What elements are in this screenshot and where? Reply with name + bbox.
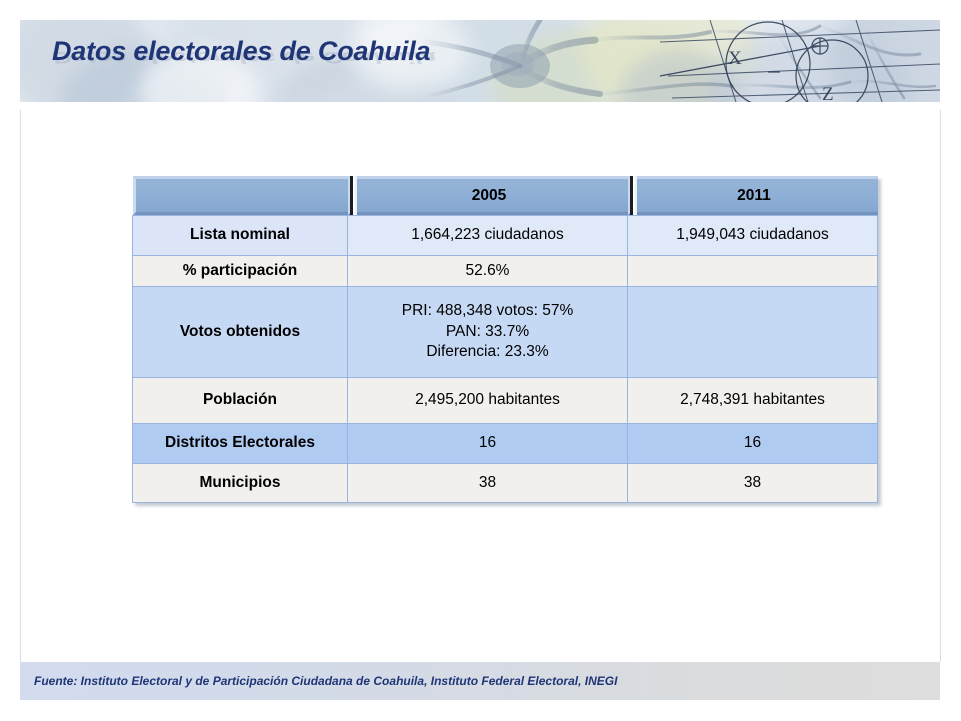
cell-votos-obtenidos-2005: PRI: 488,348 votos: 57% PAN: 33.7% Difer… — [348, 287, 628, 378]
column-header-2011-cell: 2011 — [628, 176, 878, 215]
table-row: Distritos Electorales 16 16 — [133, 424, 878, 464]
row-label-distritos-electorales: Distritos Electorales — [133, 424, 348, 464]
cell-votos-obtenidos-2011 — [628, 287, 878, 378]
row-label-lista-nominal: Lista nominal — [133, 216, 348, 256]
page-title: Datos electorales de Coahuila — [52, 36, 430, 67]
cell-participacion-2011 — [628, 256, 878, 287]
cell-distritos-2011: 16 — [628, 424, 878, 464]
row-label-votos-obtenidos: Votos obtenidos — [133, 287, 348, 378]
svg-text:X: X — [728, 48, 742, 69]
column-header-2005-label: 2005 — [472, 187, 506, 205]
column-header-2011-label: 2011 — [737, 187, 771, 205]
votos-line-diferencia: Diferencia: 23.3% — [402, 342, 573, 362]
row-label-municipios: Municipios — [133, 464, 348, 503]
header-separator — [350, 176, 357, 215]
cell-lista-nominal-2005: 1,664,223 ciudadanos — [348, 216, 628, 256]
cell-municipios-2011: 38 — [628, 464, 878, 503]
slide-canvas: X Z Datos electorales de Coahuila Datos … — [0, 0, 961, 721]
cell-poblacion-2011: 2,748,391 habitantes — [628, 378, 878, 424]
row-label-poblacion: Población — [133, 378, 348, 424]
table-header-row: 2005 2011 — [133, 176, 878, 216]
votos-line-pan: PAN: 33.7% — [402, 322, 573, 342]
column-header-2005: 2005 — [348, 176, 628, 216]
cell-municipios-2005: 38 — [348, 464, 628, 503]
cell-distritos-2005: 16 — [348, 424, 628, 464]
table-row: Votos obtenidos PRI: 488,348 votos: 57% … — [133, 287, 878, 378]
table-row: Población 2,495,200 habitantes 2,748,391… — [133, 378, 878, 424]
header-banner: X Z Datos electorales de Coahuila Datos … — [20, 20, 940, 102]
column-header-blank-cell — [133, 176, 348, 215]
slide-left-rule — [20, 110, 21, 662]
slide-right-rule — [940, 110, 941, 662]
table-row: Municipios 38 38 — [133, 464, 878, 503]
column-header-blank — [133, 176, 348, 216]
cell-poblacion-2005: 2,495,200 habitantes — [348, 378, 628, 424]
electoral-data-table: 2005 2011 Lista nominal — [132, 176, 878, 503]
svg-text:Z: Z — [822, 84, 834, 102]
electoral-data-table-container: 2005 2011 Lista nominal — [132, 176, 877, 503]
header-separator — [630, 176, 637, 215]
votos-line-pri: PRI: 488,348 votos: 57% — [402, 301, 573, 321]
table-row: % participación 52.6% — [133, 256, 878, 287]
footer-source-text: Fuente: Instituto Electoral y de Partici… — [34, 674, 617, 688]
table-row: Lista nominal 1,664,223 ciudadanos 1,949… — [133, 216, 878, 256]
cell-participacion-2005: 52.6% — [348, 256, 628, 287]
cell-lista-nominal-2011: 1,949,043 ciudadanos — [628, 216, 878, 256]
column-header-2011: 2011 — [628, 176, 878, 216]
row-label-participacion: % participación — [133, 256, 348, 287]
column-header-2005-cell: 2005 — [348, 176, 628, 215]
